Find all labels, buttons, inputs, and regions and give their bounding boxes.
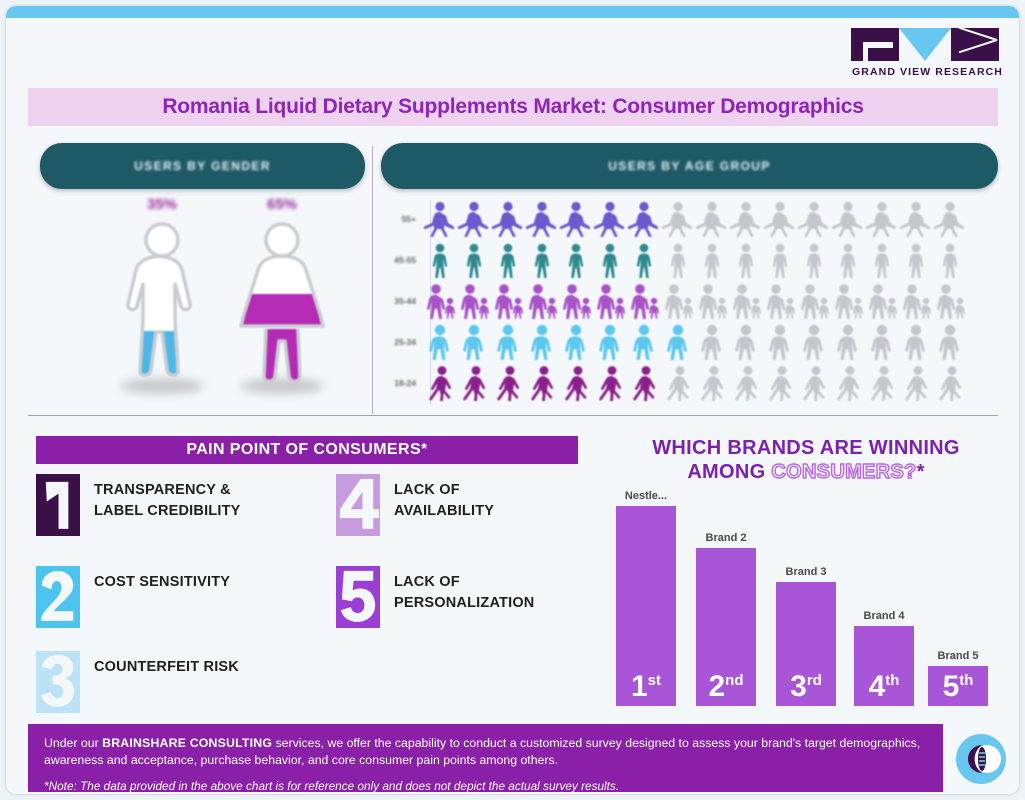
person-icon <box>899 324 933 360</box>
bar: 3rd <box>776 582 836 706</box>
age-row-pictograms <box>423 242 998 278</box>
bar-category-label: Brand 5 <box>938 650 979 662</box>
person-icon <box>593 324 627 360</box>
person-icon <box>627 365 661 401</box>
person-icon <box>797 242 831 278</box>
person-icon <box>627 283 661 319</box>
pain-point-label: LACK OF PERSONALIZATION <box>394 566 534 614</box>
age-row: 45-55 <box>381 239 998 280</box>
bar-rank-label: 3rd <box>790 672 822 702</box>
gender-female-group: 65% <box>222 196 342 401</box>
person-icon <box>797 283 831 319</box>
person-icon <box>593 365 627 401</box>
person-icon <box>491 365 525 401</box>
age-row-pictograms <box>423 201 998 237</box>
gvr-logo: GRAND VIEW RESEARCH <box>851 28 1003 80</box>
person-icon <box>899 283 933 319</box>
section-header-users-by-age-group: USERS BY AGE GROUP <box>381 143 998 189</box>
pain-point-label: COUNTERFEIT RISK <box>94 651 239 678</box>
person-icon <box>423 365 457 401</box>
bar-category-label: Brand 4 <box>864 610 905 622</box>
page-title-banner: Romania Liquid Dietary Supplements Marke… <box>28 88 998 126</box>
person-icon <box>525 242 559 278</box>
male-figure-icon <box>102 216 222 401</box>
logo-g-icon <box>851 28 899 61</box>
person-icon <box>763 283 797 319</box>
bar-rank-label: 2nd <box>708 672 743 702</box>
person-icon <box>593 242 627 278</box>
age-row-label: 18-24 <box>381 378 423 388</box>
brainshare-logo-icon <box>954 732 1008 786</box>
person-icon <box>661 283 695 319</box>
gender-male-group: 35% <box>102 196 222 401</box>
age-row-label: 45-55 <box>381 255 423 265</box>
person-icon <box>729 201 763 237</box>
footer-brainshare-consulting: BRAINSHARE CONSULTING <box>102 736 272 750</box>
pain-point-label: COST SENSITIVITY <box>94 566 230 593</box>
person-icon <box>457 324 491 360</box>
person-icon <box>423 283 457 319</box>
person-icon <box>899 201 933 237</box>
person-icon <box>423 242 457 278</box>
person-icon <box>729 365 763 401</box>
person-icon <box>831 283 865 319</box>
person-icon <box>763 201 797 237</box>
person-icon <box>457 365 491 401</box>
person-icon <box>525 324 559 360</box>
person-icon <box>831 365 865 401</box>
person-icon <box>593 283 627 319</box>
age-row: 18-24 <box>381 362 998 403</box>
page-title: Romania Liquid Dietary Supplements Marke… <box>162 95 863 119</box>
logo-r-icon <box>951 28 999 61</box>
section-header-gender-label: USERS BY GENDER <box>134 159 271 173</box>
bar-group: Brand 33rd <box>776 582 836 706</box>
person-icon <box>559 365 593 401</box>
person-icon <box>457 201 491 237</box>
person-icon <box>831 324 865 360</box>
pain-point-item: COUNTERFEIT RISK <box>36 651 239 713</box>
person-icon <box>933 201 967 237</box>
footer-note: *Note: The data provided in the above ch… <box>44 778 927 794</box>
bar-group: Nestle...1st <box>616 506 676 706</box>
person-icon <box>559 201 593 237</box>
age-row-label: 25-34 <box>381 337 423 347</box>
person-icon <box>525 365 559 401</box>
logo-marks <box>851 28 1003 61</box>
pain-point-label: LACK OF AVAILABILITY <box>394 474 494 522</box>
person-icon <box>729 242 763 278</box>
brands-title-line1: WHICH BRANDS ARE WINNING <box>606 436 1006 460</box>
person-icon <box>627 242 661 278</box>
person-icon <box>797 201 831 237</box>
vertical-divider <box>372 146 373 414</box>
bar-rank-label: 5th <box>943 672 974 702</box>
brands-title-among: AMONG <box>687 461 771 483</box>
bar: 1st <box>616 506 676 706</box>
age-row-pictograms <box>423 283 998 319</box>
person-icon <box>831 201 865 237</box>
pain-points-header: PAIN POINT OF CONSUMERS* <box>36 436 578 464</box>
pain-point-number-4-icon <box>336 474 380 536</box>
pain-point-label: TRANSPARENCY & LABEL CREDIBILITY <box>94 474 241 522</box>
person-icon <box>729 324 763 360</box>
person-icon <box>695 283 729 319</box>
footer-banner: Under our BRAINSHARE CONSULTING services… <box>28 724 943 792</box>
pain-point-number-1-icon <box>36 474 80 536</box>
person-icon <box>457 242 491 278</box>
person-icon <box>491 324 525 360</box>
female-percent-label: 65% <box>222 196 342 216</box>
age-group-chart: 55+45-5535-4425-3418-24 <box>381 198 998 410</box>
footer-pre: Under our <box>44 736 102 750</box>
bar-rank-label: 1st <box>631 672 661 702</box>
pain-point-item: LACK OF PERSONALIZATION <box>336 566 534 628</box>
brands-chart-title: WHICH BRANDS ARE WINNING AMONG CONSUMERS… <box>606 436 1006 484</box>
infographic-page: GRAND VIEW RESEARCH Romania Liquid Dieta… <box>0 0 1025 800</box>
person-icon <box>559 283 593 319</box>
top-accent-bar <box>6 6 1019 18</box>
pain-point-item: TRANSPARENCY & LABEL CREDIBILITY <box>36 474 241 536</box>
age-row: 35-44 <box>381 280 998 321</box>
person-icon <box>865 324 899 360</box>
bar: 5th <box>928 666 988 706</box>
male-percent-label: 35% <box>102 196 222 216</box>
person-icon <box>899 242 933 278</box>
pain-point-number-2-icon <box>36 566 80 628</box>
person-icon <box>491 201 525 237</box>
person-icon <box>865 201 899 237</box>
bar-rank-label: 4th <box>869 672 900 702</box>
person-icon <box>627 324 661 360</box>
brands-title-line2: AMONG CONSUMERS?* <box>606 460 1006 484</box>
section-header-age-label: USERS BY AGE GROUP <box>608 159 771 173</box>
horizontal-divider <box>28 415 998 416</box>
person-icon <box>763 242 797 278</box>
person-icon <box>933 365 967 401</box>
person-icon <box>763 324 797 360</box>
logo-wordmark: GRAND VIEW RESEARCH <box>851 66 1003 78</box>
person-icon <box>423 324 457 360</box>
person-icon <box>457 283 491 319</box>
pain-point-item: LACK OF AVAILABILITY <box>336 474 494 536</box>
age-row-list: 55+45-5535-4425-3418-24 <box>381 198 998 403</box>
person-icon <box>525 283 559 319</box>
female-figure-icon <box>222 216 342 401</box>
person-icon <box>831 242 865 278</box>
pain-point-number-5-icon <box>336 566 380 628</box>
person-icon <box>695 201 729 237</box>
bar-category-label: Brand 2 <box>706 532 747 544</box>
person-icon <box>661 242 695 278</box>
bar-group: Brand 55th <box>928 666 988 706</box>
age-row: 55+ <box>381 198 998 239</box>
gender-chart: 35% <box>40 196 365 411</box>
brands-title-asterisk: * <box>917 461 925 483</box>
infographic-card: GRAND VIEW RESEARCH Romania Liquid Dieta… <box>6 6 1019 794</box>
person-icon <box>559 242 593 278</box>
person-icon <box>729 283 763 319</box>
bar-category-label: Brand 3 <box>786 566 827 578</box>
bar-group: Brand 44th <box>854 626 914 706</box>
person-icon <box>491 242 525 278</box>
person-icon <box>865 283 899 319</box>
bar-category-label: Nestle... <box>625 490 667 502</box>
person-icon <box>865 365 899 401</box>
bar: 4th <box>854 626 914 706</box>
person-icon <box>661 324 695 360</box>
person-icon <box>559 324 593 360</box>
person-icon <box>423 201 457 237</box>
brands-title-consumers: CONSUMERS? <box>771 461 916 483</box>
age-row-label: 55+ <box>381 214 423 224</box>
brands-bar-chart: Nestle...1stBrand 22ndBrand 33rdBrand 44… <box>606 486 1006 711</box>
age-row-label: 35-44 <box>381 296 423 306</box>
person-icon <box>627 201 661 237</box>
person-icon <box>865 242 899 278</box>
age-row-pictograms <box>423 365 998 401</box>
person-icon <box>933 283 967 319</box>
footer-main-text: Under our BRAINSHARE CONSULTING services… <box>44 735 927 770</box>
pain-points-header-label: PAIN POINT OF CONSUMERS* <box>186 441 427 459</box>
logo-v-triangle-icon <box>899 28 951 61</box>
person-icon <box>933 324 967 360</box>
person-icon <box>661 365 695 401</box>
person-icon <box>933 242 967 278</box>
person-icon <box>593 201 627 237</box>
age-row-pictograms <box>423 324 998 360</box>
pain-point-item: COST SENSITIVITY <box>36 566 230 628</box>
person-icon <box>491 283 525 319</box>
person-icon <box>695 242 729 278</box>
person-icon <box>661 201 695 237</box>
person-icon <box>695 324 729 360</box>
person-icon <box>525 201 559 237</box>
age-row: 25-34 <box>381 321 998 362</box>
person-icon <box>763 365 797 401</box>
pain-point-number-3-icon <box>36 651 80 713</box>
person-icon <box>695 365 729 401</box>
person-icon <box>797 365 831 401</box>
section-header-users-by-gender: USERS BY GENDER <box>40 143 365 189</box>
bar: 2nd <box>696 548 756 706</box>
bar-group: Brand 22nd <box>696 548 756 706</box>
person-icon <box>899 365 933 401</box>
person-icon <box>797 324 831 360</box>
